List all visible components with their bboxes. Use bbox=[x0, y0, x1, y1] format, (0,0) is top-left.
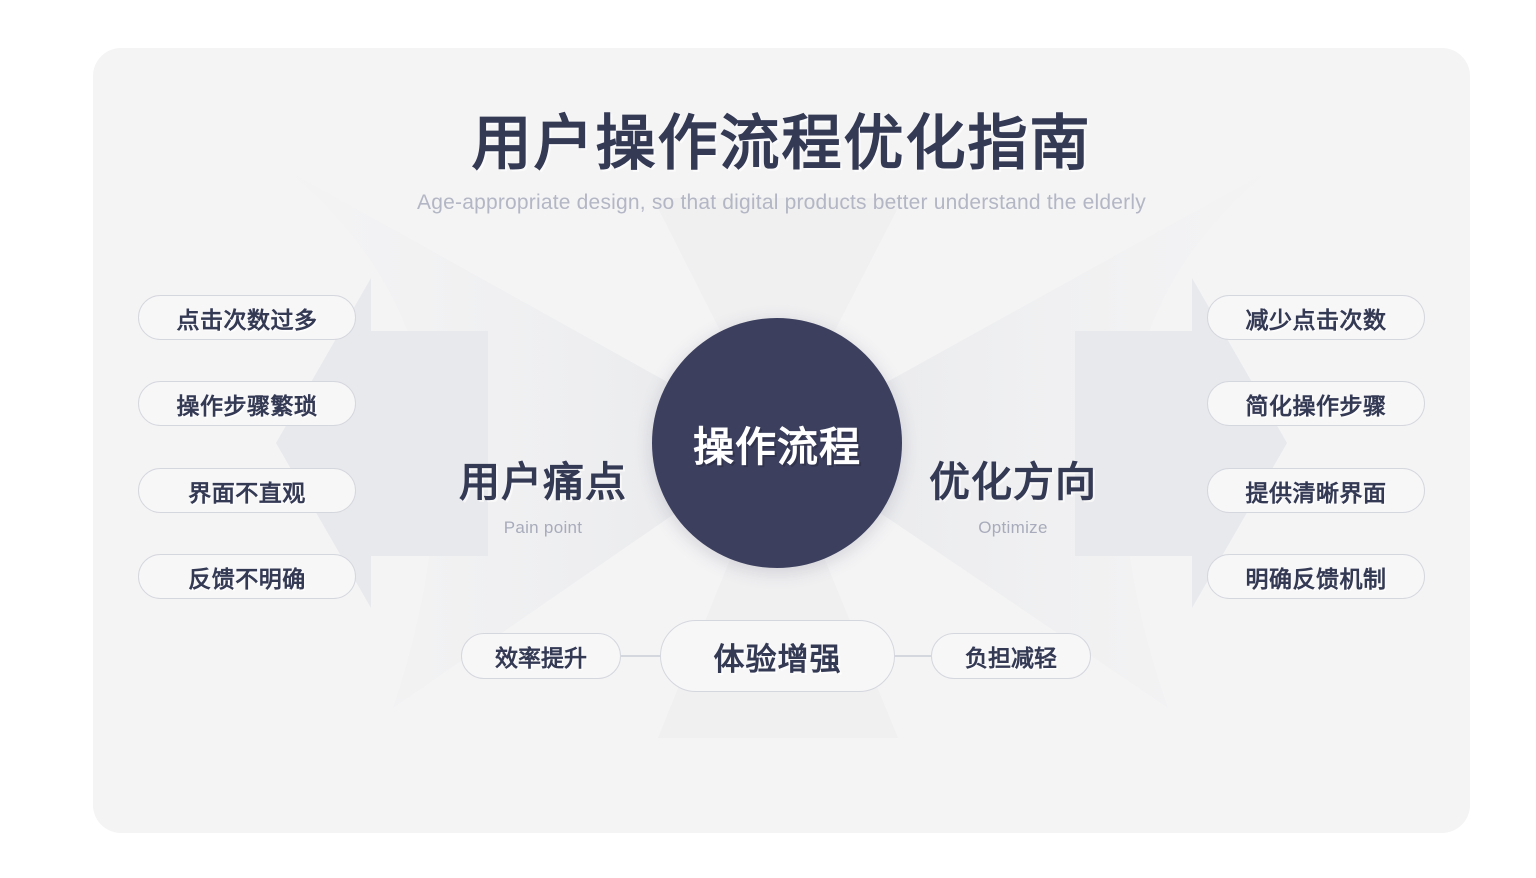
outcome-efficiency[interactable]: 效率提升 bbox=[461, 633, 621, 679]
section-label-optimize-cn: 优化方向 bbox=[908, 448, 1118, 508]
pain-point-item[interactable]: 界面不直观 bbox=[138, 468, 356, 513]
section-label-pain-point-cn: 用户痛点 bbox=[438, 448, 648, 508]
outcome-burden-label: 负担减轻 bbox=[965, 639, 1057, 673]
optimize-item[interactable]: 减少点击次数 bbox=[1207, 295, 1425, 340]
page-title: 用户操作流程优化指南 bbox=[93, 110, 1470, 177]
pain-point-item-label: 操作步骤繁琐 bbox=[177, 387, 318, 421]
outcome-experience-label: 体验增强 bbox=[714, 634, 842, 679]
screenshot-root: 用户操作流程优化指南 Age-appropriate design, so th… bbox=[0, 0, 1536, 878]
pain-point-item[interactable]: 反馈不明确 bbox=[138, 554, 356, 599]
section-label-optimize-en: Optimize bbox=[908, 518, 1118, 538]
pain-point-item[interactable]: 操作步骤繁琐 bbox=[138, 381, 356, 426]
optimize-item[interactable]: 提供清晰界面 bbox=[1207, 468, 1425, 513]
optimize-item-label: 提供清晰界面 bbox=[1246, 474, 1387, 508]
pain-point-item-label: 点击次数过多 bbox=[177, 301, 318, 335]
optimize-item[interactable]: 明确反馈机制 bbox=[1207, 554, 1425, 599]
section-label-pain-point-en: Pain point bbox=[438, 518, 648, 538]
outcome-efficiency-label: 效率提升 bbox=[495, 639, 587, 673]
center-node-operation-flow[interactable]: 操作流程 bbox=[652, 318, 902, 568]
outcome-burden[interactable]: 负担减轻 bbox=[931, 633, 1091, 679]
outcome-connector-left bbox=[621, 655, 661, 657]
infographic-card: 用户操作流程优化指南 Age-appropriate design, so th… bbox=[93, 48, 1470, 833]
optimize-item-label: 减少点击次数 bbox=[1246, 301, 1387, 335]
pain-point-item-label: 界面不直观 bbox=[188, 474, 306, 508]
optimize-item-label: 明确反馈机制 bbox=[1246, 560, 1387, 594]
center-node-label: 操作流程 bbox=[693, 413, 861, 473]
pain-point-item[interactable]: 点击次数过多 bbox=[138, 295, 356, 340]
optimize-item[interactable]: 简化操作步骤 bbox=[1207, 381, 1425, 426]
page-subtitle: Age-appropriate design, so that digital … bbox=[93, 191, 1470, 215]
optimize-item-label: 简化操作步骤 bbox=[1246, 387, 1387, 421]
pain-point-item-label: 反馈不明确 bbox=[188, 560, 306, 594]
outcome-connector-right bbox=[894, 655, 932, 657]
header: 用户操作流程优化指南 Age-appropriate design, so th… bbox=[93, 110, 1470, 215]
section-label-pain-point: 用户痛点 Pain point bbox=[438, 448, 648, 538]
outcome-experience[interactable]: 体验增强 bbox=[660, 620, 895, 692]
section-label-optimize: 优化方向 Optimize bbox=[908, 448, 1118, 538]
